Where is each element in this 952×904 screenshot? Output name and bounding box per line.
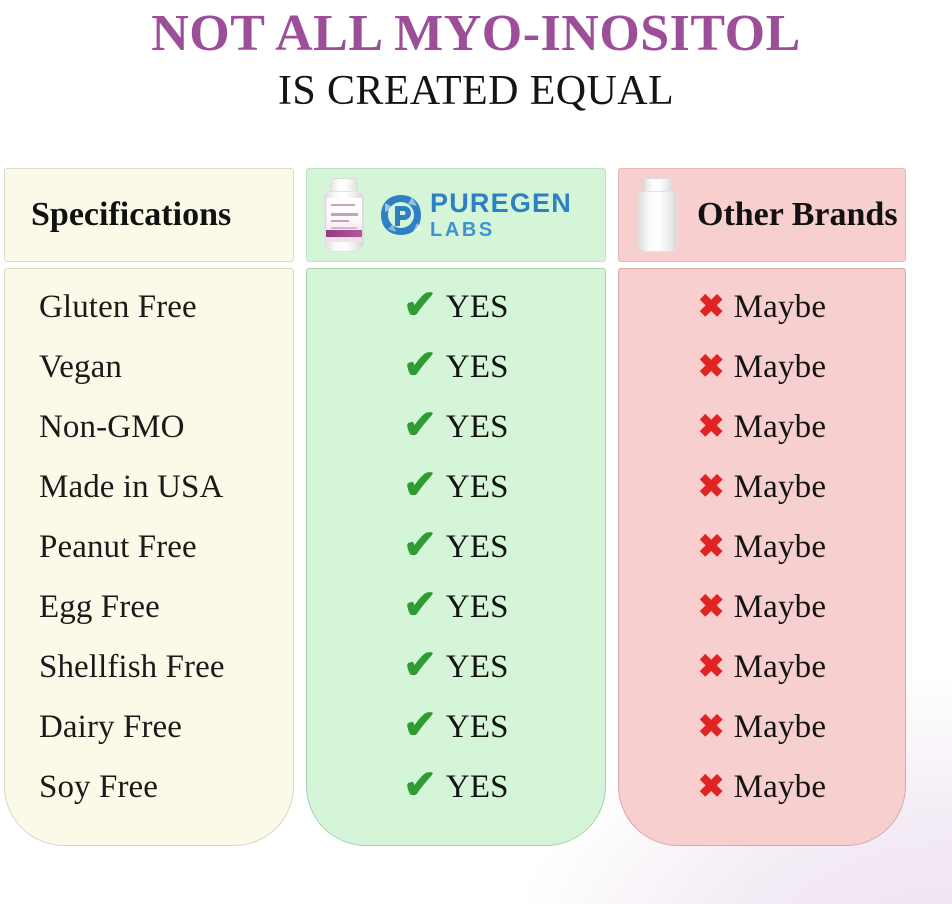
cell-label: Maybe — [734, 649, 827, 686]
cell-value-yes: ✔ YES — [403, 527, 508, 567]
table-row: ✖ Maybe — [619, 697, 905, 757]
table-row: ✔ YES — [307, 577, 605, 637]
cross-icon: ✖ — [698, 350, 725, 382]
spec-label: Gluten Free — [39, 289, 197, 326]
cell-label: Maybe — [734, 529, 827, 566]
spec-label: Peanut Free — [39, 529, 197, 566]
table-row: ✔ YES — [307, 277, 605, 337]
table-row: ✔ YES — [307, 517, 605, 577]
check-icon: ✔ — [403, 765, 437, 805]
title-line-secondary: IS CREATED EQUAL — [0, 66, 952, 116]
cell-label: YES — [446, 409, 509, 446]
table-row: Non-GMO — [5, 397, 293, 457]
cell-label: Maybe — [734, 409, 827, 446]
cell-value-yes: ✔ YES — [403, 587, 508, 627]
check-icon: ✔ — [403, 465, 437, 505]
table-row: ✖ Maybe — [619, 397, 905, 457]
logo-brand-sub: LABS — [430, 220, 572, 240]
spec-label: Dairy Free — [39, 709, 182, 746]
check-icon: ✔ — [403, 705, 437, 745]
spec-label: Soy Free — [39, 769, 158, 806]
table-row: ✔ YES — [307, 637, 605, 697]
cell-label: YES — [446, 529, 509, 566]
cross-icon: ✖ — [698, 650, 725, 682]
cell-label: YES — [446, 709, 509, 746]
cell-label: YES — [446, 649, 509, 686]
header-cell-puregen-labs: PUREGEN LABS — [306, 168, 606, 262]
puregen-labs-logo: PUREGEN LABS — [379, 190, 572, 240]
cell-label: YES — [446, 349, 509, 386]
table-row: Egg Free — [5, 577, 293, 637]
cell-value-maybe: ✖ Maybe — [698, 289, 826, 326]
body-other-brands: ✖ Maybe ✖ Maybe ✖ Maybe — [618, 268, 906, 846]
table-row: Vegan — [5, 337, 293, 397]
cross-icon: ✖ — [698, 470, 725, 502]
table-row: Made in USA — [5, 457, 293, 517]
cell-label: YES — [446, 589, 509, 626]
table-row: ✖ Maybe — [619, 757, 905, 817]
cell-value-maybe: ✖ Maybe — [698, 409, 826, 446]
header-label-other-brands: Other Brands — [697, 196, 898, 234]
comparison-table: Specifications Gluten Free Vegan Non-GMO… — [4, 168, 948, 848]
table-row: ✔ YES — [307, 457, 605, 517]
cross-icon: ✖ — [698, 410, 725, 442]
table-row: ✖ Maybe — [619, 337, 905, 397]
cell-label: Maybe — [734, 469, 827, 506]
table-row: ✔ YES — [307, 697, 605, 757]
spec-label: Vegan — [39, 349, 122, 386]
cell-value-yes: ✔ YES — [403, 767, 508, 807]
table-row: Gluten Free — [5, 277, 293, 337]
cell-label: Maybe — [734, 289, 827, 326]
header-cell-other-brands: Other Brands — [618, 168, 906, 262]
title-line-primary: NOT ALL MYO-INOSITOL — [0, 6, 952, 62]
spec-label: Non-GMO — [39, 409, 185, 446]
header-label-specifications: Specifications — [31, 196, 231, 234]
logo-brand-name: PUREGEN — [430, 190, 572, 217]
check-icon: ✔ — [403, 405, 437, 445]
header-cell-specifications: Specifications — [4, 168, 294, 262]
check-icon: ✔ — [403, 345, 437, 385]
table-row: ✖ Maybe — [619, 517, 905, 577]
cell-label: Maybe — [734, 589, 827, 626]
cross-icon: ✖ — [698, 290, 725, 322]
table-row: ✖ Maybe — [619, 457, 905, 517]
cross-icon: ✖ — [698, 590, 725, 622]
spec-label: Shellfish Free — [39, 649, 225, 686]
table-row: Soy Free — [5, 757, 293, 817]
table-row: Dairy Free — [5, 697, 293, 757]
table-row: ✖ Maybe — [619, 577, 905, 637]
cell-label: YES — [446, 289, 509, 326]
cell-value-maybe: ✖ Maybe — [698, 709, 826, 746]
table-row: Peanut Free — [5, 517, 293, 577]
spec-label: Made in USA — [39, 469, 223, 506]
page-title: NOT ALL MYO-INOSITOL IS CREATED EQUAL — [0, 0, 952, 117]
column-specifications: Specifications Gluten Free Vegan Non-GMO… — [4, 168, 294, 848]
table-row: ✔ YES — [307, 757, 605, 817]
check-icon: ✔ — [403, 285, 437, 325]
column-puregen-labs: PUREGEN LABS ✔ YES ✔ YES — [306, 168, 606, 848]
cell-label: Maybe — [734, 349, 827, 386]
cross-icon: ✖ — [698, 710, 725, 742]
spec-row-list: Gluten Free Vegan Non-GMO Made in USA Pe… — [5, 269, 293, 817]
cell-value-maybe: ✖ Maybe — [698, 469, 826, 506]
table-row: ✖ Maybe — [619, 277, 905, 337]
cell-value-yes: ✔ YES — [403, 287, 508, 327]
cell-value-yes: ✔ YES — [403, 707, 508, 747]
generic-bottle-icon — [635, 178, 681, 252]
table-row: Shellfish Free — [5, 637, 293, 697]
puregen-row-list: ✔ YES ✔ YES ✔ YES — [307, 269, 605, 817]
other-row-list: ✖ Maybe ✖ Maybe ✖ Maybe — [619, 269, 905, 817]
cell-value-maybe: ✖ Maybe — [698, 769, 826, 806]
table-row: ✔ YES — [307, 397, 605, 457]
cell-value-yes: ✔ YES — [403, 347, 508, 387]
check-icon: ✔ — [403, 645, 437, 685]
cell-label: Maybe — [734, 709, 827, 746]
cell-value-maybe: ✖ Maybe — [698, 349, 826, 386]
cell-value-maybe: ✖ Maybe — [698, 649, 826, 686]
spec-label: Egg Free — [39, 589, 160, 626]
cell-label: YES — [446, 469, 509, 506]
cross-icon: ✖ — [698, 530, 725, 562]
table-row: ✖ Maybe — [619, 637, 905, 697]
cell-value-maybe: ✖ Maybe — [698, 589, 826, 626]
cell-value-yes: ✔ YES — [403, 647, 508, 687]
cell-value-yes: ✔ YES — [403, 407, 508, 447]
body-specifications: Gluten Free Vegan Non-GMO Made in USA Pe… — [4, 268, 294, 846]
body-puregen-labs: ✔ YES ✔ YES ✔ YES — [306, 268, 606, 846]
cross-icon: ✖ — [698, 770, 725, 802]
puregen-leaf-icon — [379, 193, 423, 237]
table-row: ✔ YES — [307, 337, 605, 397]
cell-label: YES — [446, 769, 509, 806]
check-icon: ✔ — [403, 585, 437, 625]
puregen-bottle-icon — [321, 178, 367, 252]
column-other-brands: Other Brands ✖ Maybe ✖ Maybe — [618, 168, 906, 848]
check-icon: ✔ — [403, 525, 437, 565]
cell-value-yes: ✔ YES — [403, 467, 508, 507]
cell-value-maybe: ✖ Maybe — [698, 529, 826, 566]
cell-label: Maybe — [734, 769, 827, 806]
